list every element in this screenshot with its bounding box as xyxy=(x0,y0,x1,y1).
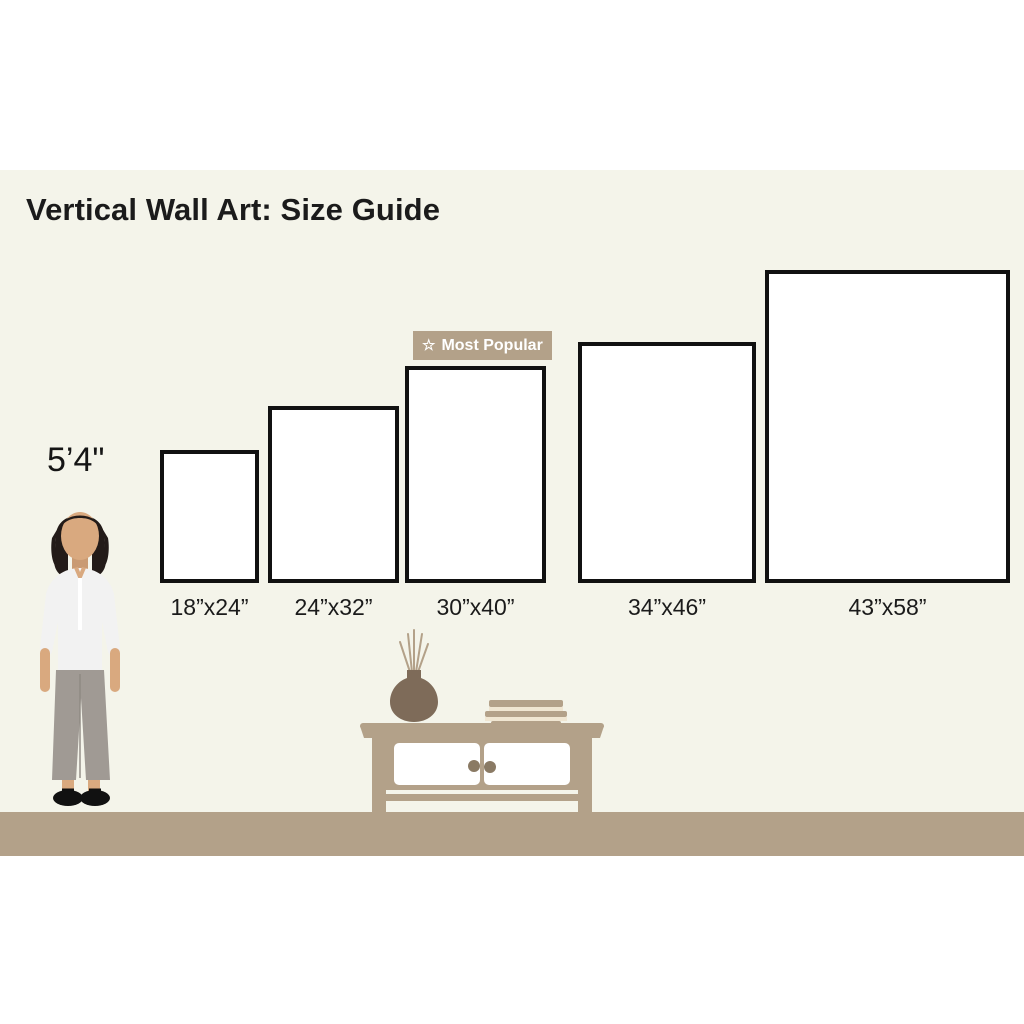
art-frame-43x58[interactable] xyxy=(765,270,1010,583)
star-icon: ☆ xyxy=(422,338,435,353)
most-popular-label: Most Popular xyxy=(441,337,542,355)
art-frame-18x24[interactable] xyxy=(160,450,259,583)
frame-size-label: 24”x32” xyxy=(295,594,373,621)
page-title: Vertical Wall Art: Size Guide xyxy=(26,192,440,228)
art-frame-30x40[interactable] xyxy=(405,366,546,583)
console-table xyxy=(352,620,612,816)
most-popular-badge: ☆ Most Popular xyxy=(413,331,552,360)
art-frame-34x46[interactable] xyxy=(578,342,756,583)
frame-size-label: 43”x58” xyxy=(849,594,927,621)
person-height-label: 5’4" xyxy=(47,441,104,480)
frame-size-label: 18”x24” xyxy=(171,594,249,621)
frame-size-label: 34”x46” xyxy=(628,594,706,621)
floor-band xyxy=(0,812,1024,856)
person-figure xyxy=(18,498,142,816)
size-guide-illustration: Vertical Wall Art: Size Guide 5’4" xyxy=(0,0,1024,1024)
frame-size-label: 30”x40” xyxy=(437,594,515,621)
art-frame-24x32[interactable] xyxy=(268,406,399,583)
